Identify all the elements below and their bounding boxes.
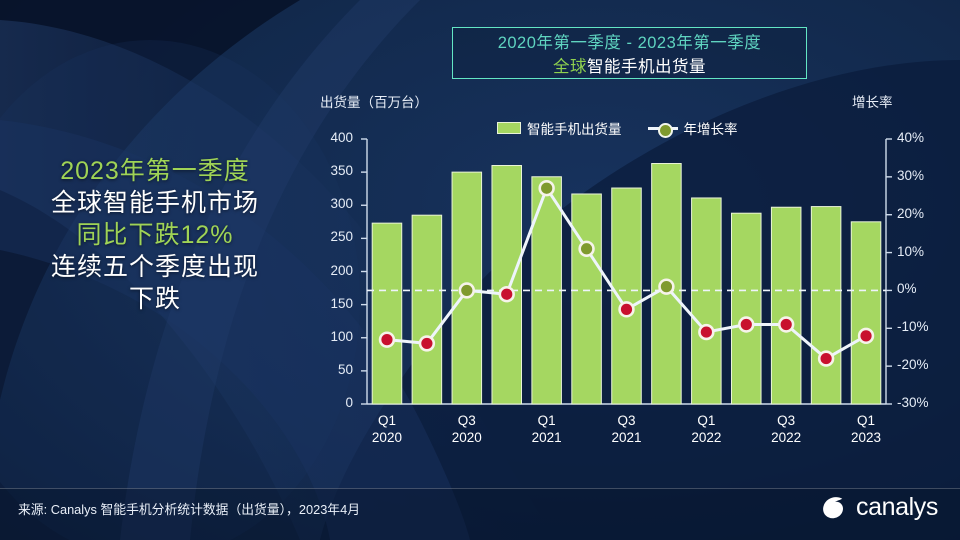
growth-marker[interactable]: [461, 285, 472, 296]
growth-marker[interactable]: [381, 334, 392, 345]
growth-marker[interactable]: [821, 353, 832, 364]
x-axis-tick: Q32022: [756, 413, 816, 447]
x-axis-tick: Q32021: [597, 413, 657, 447]
bar[interactable]: [572, 194, 602, 404]
source-note: 来源: Canalys 智能手机分析统计数据（出货量），2023年4月: [18, 499, 360, 518]
y-axis-left-tick: 0: [313, 395, 353, 410]
y-axis-right-tick: 30%: [897, 168, 945, 183]
bar[interactable]: [731, 213, 761, 404]
y-axis-right-tick: 10%: [897, 244, 945, 259]
x-axis-tick-quarter: Q1: [676, 413, 736, 430]
x-axis-tick-year: 2022: [756, 430, 816, 447]
chart-svg: [0, 0, 960, 540]
growth-marker[interactable]: [781, 319, 792, 330]
x-axis-tick-year: 2021: [597, 430, 657, 447]
x-axis-tick-quarter: Q1: [517, 413, 577, 430]
bar[interactable]: [851, 222, 881, 404]
growth-marker[interactable]: [661, 281, 672, 292]
bar[interactable]: [372, 223, 402, 404]
growth-marker[interactable]: [501, 289, 512, 300]
y-axis-right-tick: -20%: [897, 357, 945, 372]
canalys-logo: canalys: [819, 492, 938, 522]
y-axis-left-tick: 150: [313, 296, 353, 311]
x-axis-tick-quarter: Q3: [597, 413, 657, 430]
slide-canvas: 2023年第一季度 全球智能手机市场 同比下跌12% 连续五个季度出现 下跌 2…: [0, 0, 960, 540]
y-axis-left-tick: 400: [313, 130, 353, 145]
x-axis-tick-quarter: Q3: [756, 413, 816, 430]
growth-marker[interactable]: [581, 243, 592, 254]
bar[interactable]: [771, 207, 801, 404]
x-axis-tick-year: 2021: [517, 430, 577, 447]
x-axis-tick: Q12022: [676, 413, 736, 447]
y-axis-left-tick: 50: [313, 362, 353, 377]
x-axis-tick: Q12020: [357, 413, 417, 447]
y-axis-right-tick: 0%: [897, 281, 945, 296]
x-axis-tick-year: 2022: [676, 430, 736, 447]
y-axis-right-tick: 20%: [897, 206, 945, 221]
x-axis-tick-year: 2020: [437, 430, 497, 447]
x-axis-tick: Q12021: [517, 413, 577, 447]
x-axis-tick-year: 2020: [357, 430, 417, 447]
bar[interactable]: [412, 215, 442, 404]
growth-marker[interactable]: [741, 319, 752, 330]
y-axis-right-tick: -30%: [897, 395, 945, 410]
chart-plot-area: 050100150200250300350400-30%-20%-10%0%10…: [0, 0, 960, 540]
x-axis-tick: Q32020: [437, 413, 497, 447]
y-axis-right-tick: 40%: [897, 130, 945, 145]
x-axis-tick-quarter: Q1: [836, 413, 896, 430]
y-axis-left-tick: 300: [313, 196, 353, 211]
canalys-logo-text: canalys: [856, 493, 938, 522]
bar[interactable]: [692, 198, 722, 404]
growth-marker[interactable]: [421, 338, 432, 349]
x-axis-tick-year: 2023: [836, 430, 896, 447]
y-axis-left-tick: 350: [313, 163, 353, 178]
growth-marker[interactable]: [541, 183, 552, 194]
bar[interactable]: [492, 166, 522, 405]
y-axis-right-tick: -10%: [897, 319, 945, 334]
y-axis-left-tick: 250: [313, 229, 353, 244]
growth-marker[interactable]: [860, 330, 871, 341]
x-axis-tick: Q12023: [836, 413, 896, 447]
y-axis-left-tick: 200: [313, 263, 353, 278]
bar[interactable]: [811, 207, 841, 404]
canalys-mark-icon: [819, 492, 849, 522]
y-axis-left-tick: 100: [313, 329, 353, 344]
growth-marker[interactable]: [621, 304, 632, 315]
x-axis-tick-quarter: Q3: [437, 413, 497, 430]
x-axis-tick-quarter: Q1: [357, 413, 417, 430]
growth-marker[interactable]: [701, 326, 712, 337]
